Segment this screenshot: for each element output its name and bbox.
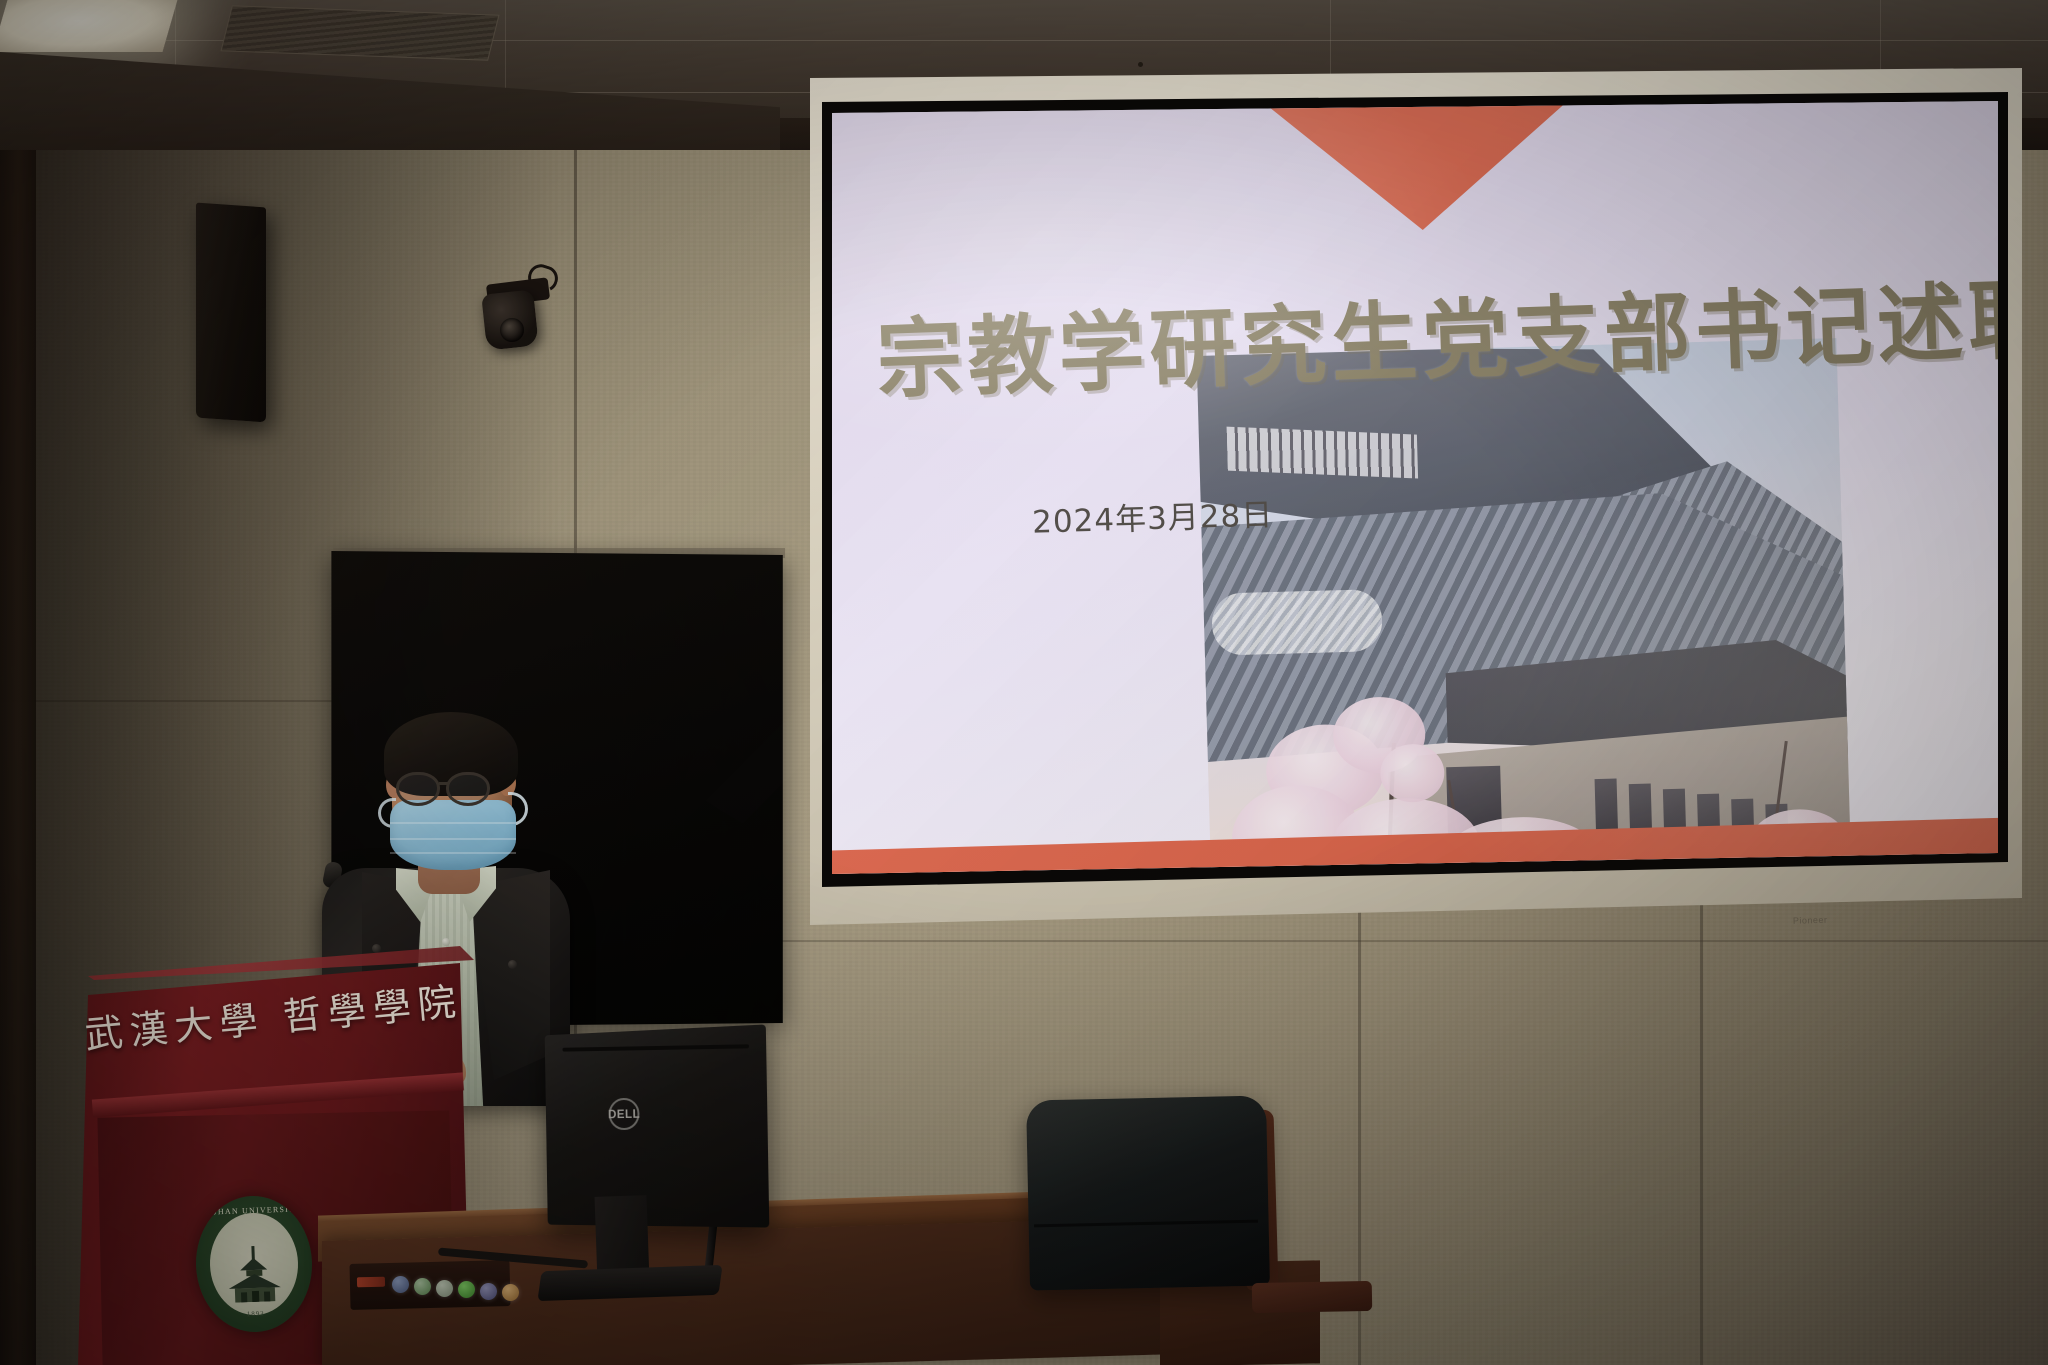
control-button-3[interactable] <box>436 1280 453 1297</box>
slide-chevron-shape <box>1259 101 1582 234</box>
screen-brand-label: Pioneer <box>1793 914 1845 929</box>
lecture-hall-scene: 宗教学研究生党支部书记述职 2024年3月28日 Pioneer <box>0 0 2048 1365</box>
chair-backrest[interactable] <box>1026 1096 1270 1291</box>
face-mask <box>390 800 516 870</box>
presentation-slide: 宗教学研究生党支部书记述职 2024年3月28日 <box>832 101 1998 874</box>
slide-photo-pagoda <box>1197 338 1852 874</box>
control-panel-logo <box>357 1277 385 1288</box>
control-button-4[interactable] <box>458 1281 475 1298</box>
eyeglasses-left-lens <box>396 772 440 806</box>
control-button-6[interactable] <box>502 1284 519 1301</box>
ceiling-air-vent <box>220 5 499 60</box>
wall-speaker <box>196 203 266 423</box>
projection-screen-surface[interactable]: 宗教学研究生党支部书记述职 2024年3月28日 <box>832 101 1998 874</box>
camera-lens-icon <box>500 318 524 342</box>
slide-date: 2024年3月28日 <box>1031 489 1273 542</box>
control-button-2[interactable] <box>414 1278 431 1295</box>
pagoda-icon <box>223 1243 285 1303</box>
control-button-1[interactable] <box>392 1276 409 1293</box>
eyeglasses-bridge <box>439 782 449 785</box>
slide-photo-callout <box>1211 589 1383 656</box>
control-button-5[interactable] <box>480 1283 497 1300</box>
ceiling-light-panel <box>0 0 177 52</box>
eyeglasses-right-lens <box>446 772 490 806</box>
dell-monitor <box>545 1024 770 1227</box>
chair-armrest <box>1252 1281 1373 1313</box>
wall-horizontal-seam <box>570 940 2048 942</box>
